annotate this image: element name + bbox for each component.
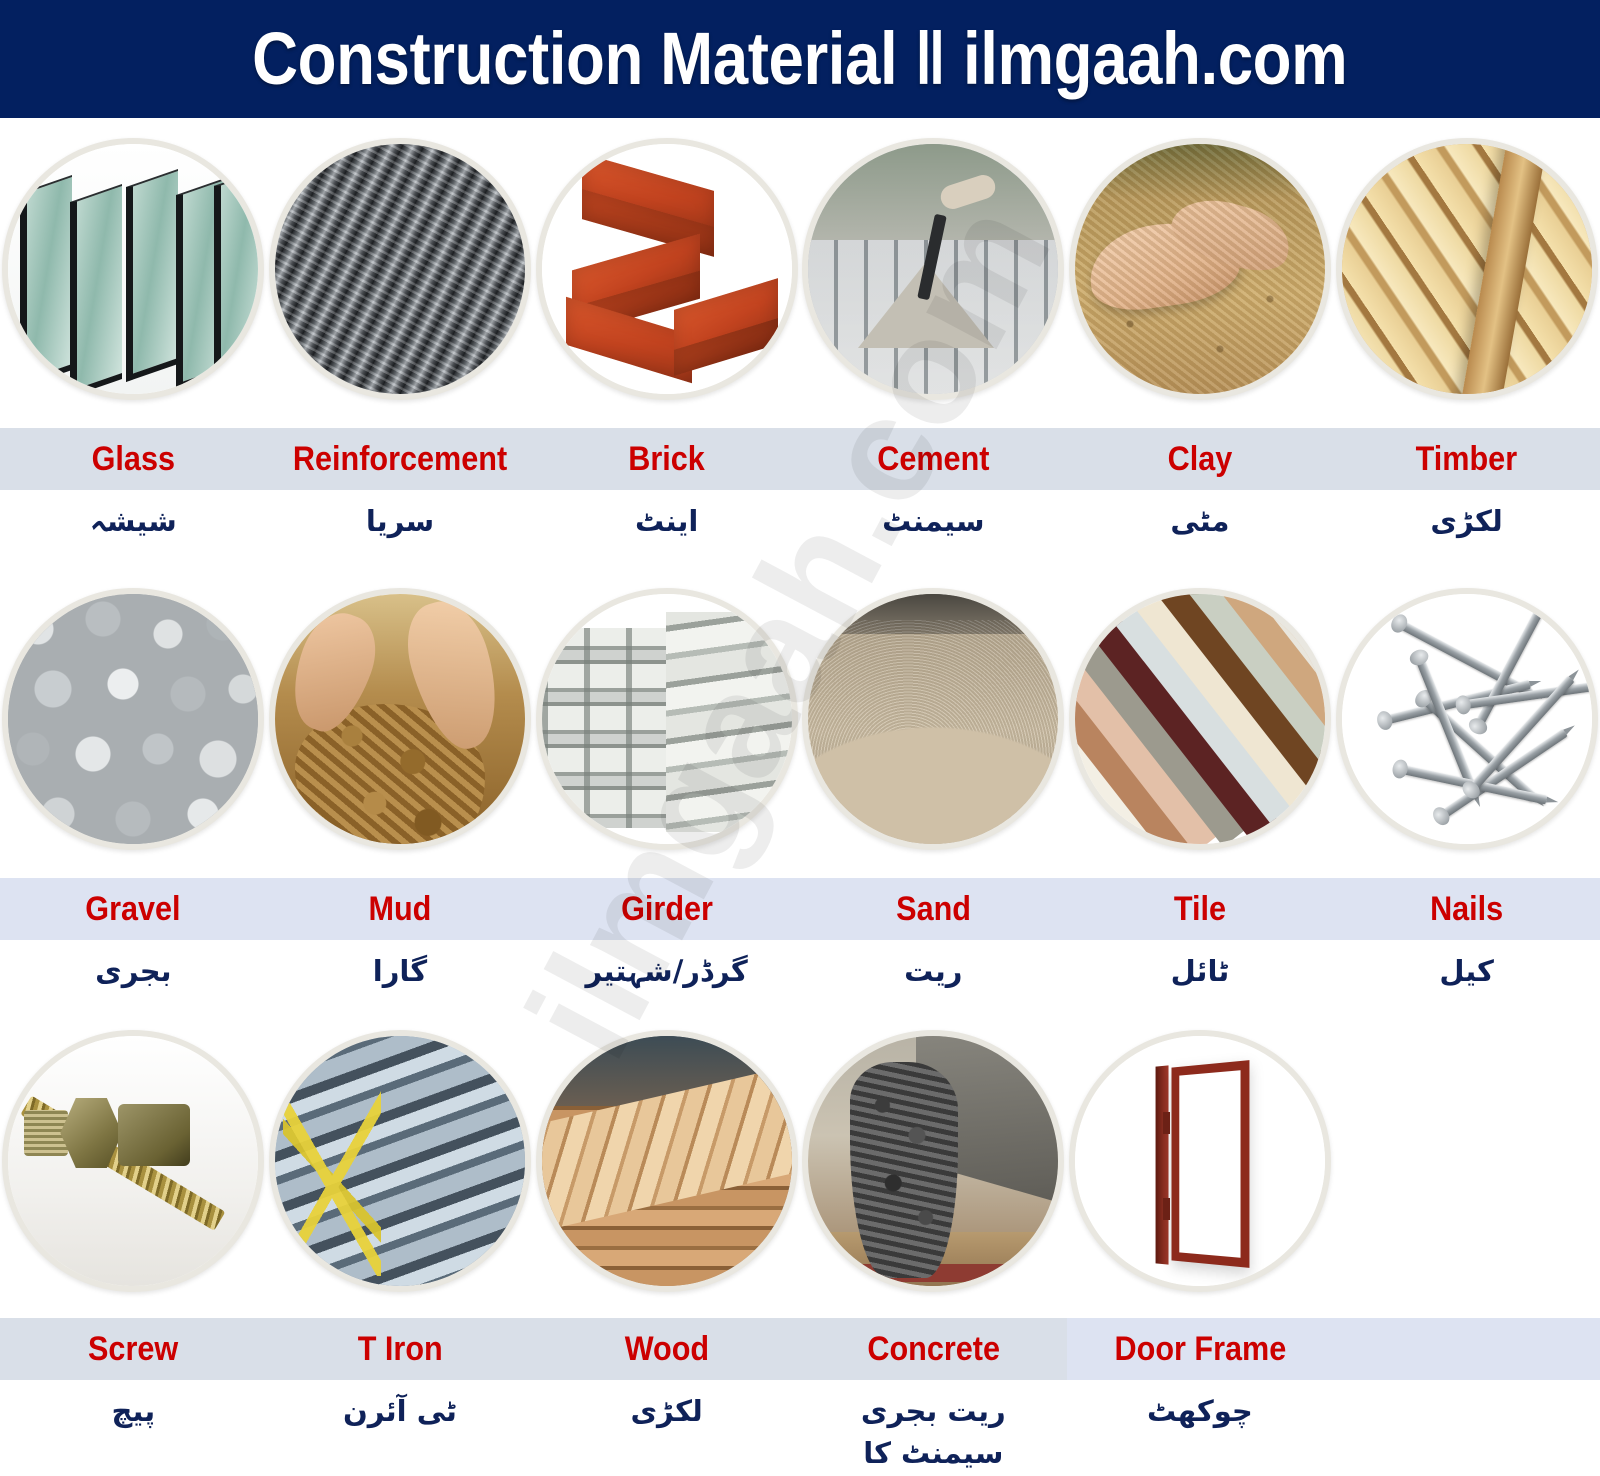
row-3-label-band: Screw T Iron Wood Concrete Door Frame [0, 1318, 1600, 1380]
label-cell-wood: Wood [533, 1318, 800, 1380]
material-cell-girder[interactable] [533, 568, 800, 850]
label-cell-gravel: Gravel [0, 878, 267, 940]
material-cell-reinforcement[interactable] [267, 118, 534, 400]
steel-i-beams-image [536, 588, 798, 850]
english-label: Concrete [867, 1332, 1000, 1366]
urdu-cell-glass: شیشہ [0, 500, 267, 542]
urdu-label: شیشہ [90, 500, 177, 542]
row-2-images [0, 568, 1600, 850]
urdu-label: لکڑی [630, 1390, 702, 1432]
label-cell-mud: Mud [267, 878, 534, 940]
rebar-bundle-image [269, 138, 531, 400]
english-label: Door Frame [1114, 1332, 1286, 1366]
material-cell-wood[interactable] [533, 1018, 800, 1292]
material-row-3: Screw T Iron Wood Concrete Door Frame پی… [0, 1018, 1600, 1476]
floor-tiles-image [1069, 588, 1331, 850]
material-cell-glass[interactable] [0, 118, 267, 400]
material-cell-clay[interactable] [1067, 118, 1334, 400]
material-cell-nails[interactable] [1333, 568, 1600, 850]
label-cell-glass: Glass [0, 428, 267, 490]
urdu-cell-brick: اینٹ [533, 500, 800, 542]
bolt-and-screw-image [2, 1030, 264, 1292]
urdu-label: بجری [95, 950, 171, 992]
urdu-label: گرڈر/شہتیر [585, 950, 747, 992]
material-cell-brick[interactable] [533, 118, 800, 400]
sand-pile-image [802, 588, 1064, 850]
urdu-label: کیل [1439, 950, 1494, 992]
row-1-label-band: Glass Reinforcement Brick Cement Clay Ti… [0, 428, 1600, 490]
construction-material-poster: Construction Material ‖ ilmgaah.com ilmg… [0, 0, 1600, 1476]
urdu-label: ٹائل [1171, 950, 1230, 992]
english-label: Gravel [86, 892, 181, 926]
label-cell-concrete: Concrete [800, 1318, 1067, 1380]
urdu-cell-sand: ریت [800, 950, 1067, 992]
cement-trowel-image [802, 138, 1064, 400]
glass-panes-image [2, 138, 264, 400]
urdu-cell-wood: لکڑی [533, 1390, 800, 1476]
crushed-gravel-image [2, 588, 264, 850]
english-label: Mud [369, 892, 432, 926]
urdu-cell-mud: گارا [267, 950, 534, 992]
page-header: Construction Material ‖ ilmgaah.com [0, 0, 1600, 118]
english-label: Nails [1430, 892, 1503, 926]
urdu-label: سیمنٹ [882, 500, 984, 542]
row-1-urdu-strip: شیشہ سریا اینٹ سیمنٹ مٹی لکڑی [0, 500, 1600, 542]
label-cell-sand: Sand [800, 878, 1067, 940]
material-cell-gravel[interactable] [0, 568, 267, 850]
urdu-cell-t-iron: ٹی آئرن [267, 1390, 534, 1476]
label-cell-door-frame: Door Frame [1067, 1318, 1334, 1380]
material-cell-timber[interactable] [1333, 118, 1600, 400]
urdu-cell-gravel: بجری [0, 950, 267, 992]
label-cell-tile: Tile [1067, 878, 1334, 940]
urdu-cell-concrete: ریت بجری سیمنٹ کا مجموعہ [800, 1390, 1067, 1476]
urdu-cell-screw: پیچ [0, 1390, 267, 1476]
material-cell-mud[interactable] [267, 568, 534, 850]
material-row-2: Gravel Mud Girder Sand Tile Nails بجری گ… [0, 568, 1600, 1018]
english-label: Tile [1174, 892, 1226, 926]
urdu-cell-door-frame: چوکھٹ [1067, 1390, 1334, 1476]
urdu-label: پیچ [112, 1390, 156, 1432]
english-label: Reinforcement [293, 442, 507, 476]
page-title: Construction Material ‖ ilmgaah.com [252, 22, 1347, 96]
material-cell-tile[interactable] [1067, 568, 1334, 850]
material-cell-t-iron[interactable] [267, 1018, 534, 1292]
material-cell-door-frame[interactable] [1067, 1018, 1334, 1292]
row-1-images [0, 118, 1600, 400]
material-row-1: Glass Reinforcement Brick Cement Clay Ti… [0, 118, 1600, 568]
english-label: Cement [877, 442, 989, 476]
row-3-images [0, 1018, 1600, 1292]
urdu-cell-empty [1333, 1390, 1600, 1476]
urdu-cell-girder: گرڈر/شہتیر [533, 950, 800, 992]
hands-with-mud-image [269, 588, 531, 850]
english-label: Clay [1168, 442, 1233, 476]
label-cell-screw: Screw [0, 1318, 267, 1380]
timber-planks-image [1336, 138, 1598, 400]
english-label: Brick [628, 442, 705, 476]
label-cell-girder: Girder [533, 878, 800, 940]
material-cell-empty [1333, 1018, 1600, 1292]
t-iron-bars-image [269, 1030, 531, 1292]
urdu-label: سریا [366, 500, 434, 542]
english-label: Glass [92, 442, 175, 476]
urdu-label: مٹی [1170, 500, 1229, 542]
urdu-label: لکڑی [1430, 500, 1502, 542]
label-cell-cement: Cement [800, 428, 1067, 490]
concrete-pouring-image [802, 1030, 1064, 1292]
english-label: Wood [624, 1332, 708, 1366]
urdu-label: اینٹ [635, 500, 698, 542]
english-label: Timber [1416, 442, 1517, 476]
urdu-cell-reinforcement: سریا [267, 500, 534, 542]
material-cell-cement[interactable] [800, 118, 1067, 400]
urdu-cell-tile: ٹائل [1067, 950, 1334, 992]
urdu-cell-timber: لکڑی [1333, 500, 1600, 542]
urdu-label: ریت بجری سیمنٹ کا مجموعہ [818, 1390, 1049, 1476]
urdu-label: گارا [373, 950, 427, 992]
red-bricks-image [536, 138, 798, 400]
wood-planks-stack-image [536, 1030, 798, 1292]
urdu-cell-nails: کیل [1333, 950, 1600, 992]
material-cell-sand[interactable] [800, 568, 1067, 850]
door-frame-image [1069, 1030, 1331, 1292]
steel-nails-image [1336, 588, 1598, 850]
material-cell-concrete[interactable] [800, 1018, 1067, 1292]
hand-holding-clay-image [1069, 138, 1331, 400]
row-2-label-band: Gravel Mud Girder Sand Tile Nails [0, 878, 1600, 940]
english-label: Girder [621, 892, 713, 926]
english-label: Sand [896, 892, 971, 926]
material-cell-screw[interactable] [0, 1018, 267, 1292]
row-2-urdu-strip: بجری گارا گرڈر/شہتیر ریت ٹائل کیل [0, 950, 1600, 992]
urdu-label: چوکھٹ [1147, 1390, 1253, 1432]
label-cell-empty [1333, 1318, 1600, 1380]
label-cell-nails: Nails [1333, 878, 1600, 940]
label-cell-reinforcement: Reinforcement [267, 428, 534, 490]
urdu-label: ریت [904, 950, 962, 992]
row-3-urdu-strip: پیچ ٹی آئرن لکڑی ریت بجری سیمنٹ کا مجموع… [0, 1390, 1600, 1476]
english-label: Screw [88, 1332, 178, 1366]
label-cell-timber: Timber [1333, 428, 1600, 490]
label-cell-clay: Clay [1067, 428, 1334, 490]
urdu-cell-clay: مٹی [1067, 500, 1334, 542]
label-cell-t-iron: T Iron [267, 1318, 534, 1380]
urdu-cell-cement: سیمنٹ [800, 500, 1067, 542]
urdu-label: ٹی آئرن [343, 1390, 457, 1432]
english-label: T Iron [357, 1332, 442, 1366]
label-cell-brick: Brick [533, 428, 800, 490]
